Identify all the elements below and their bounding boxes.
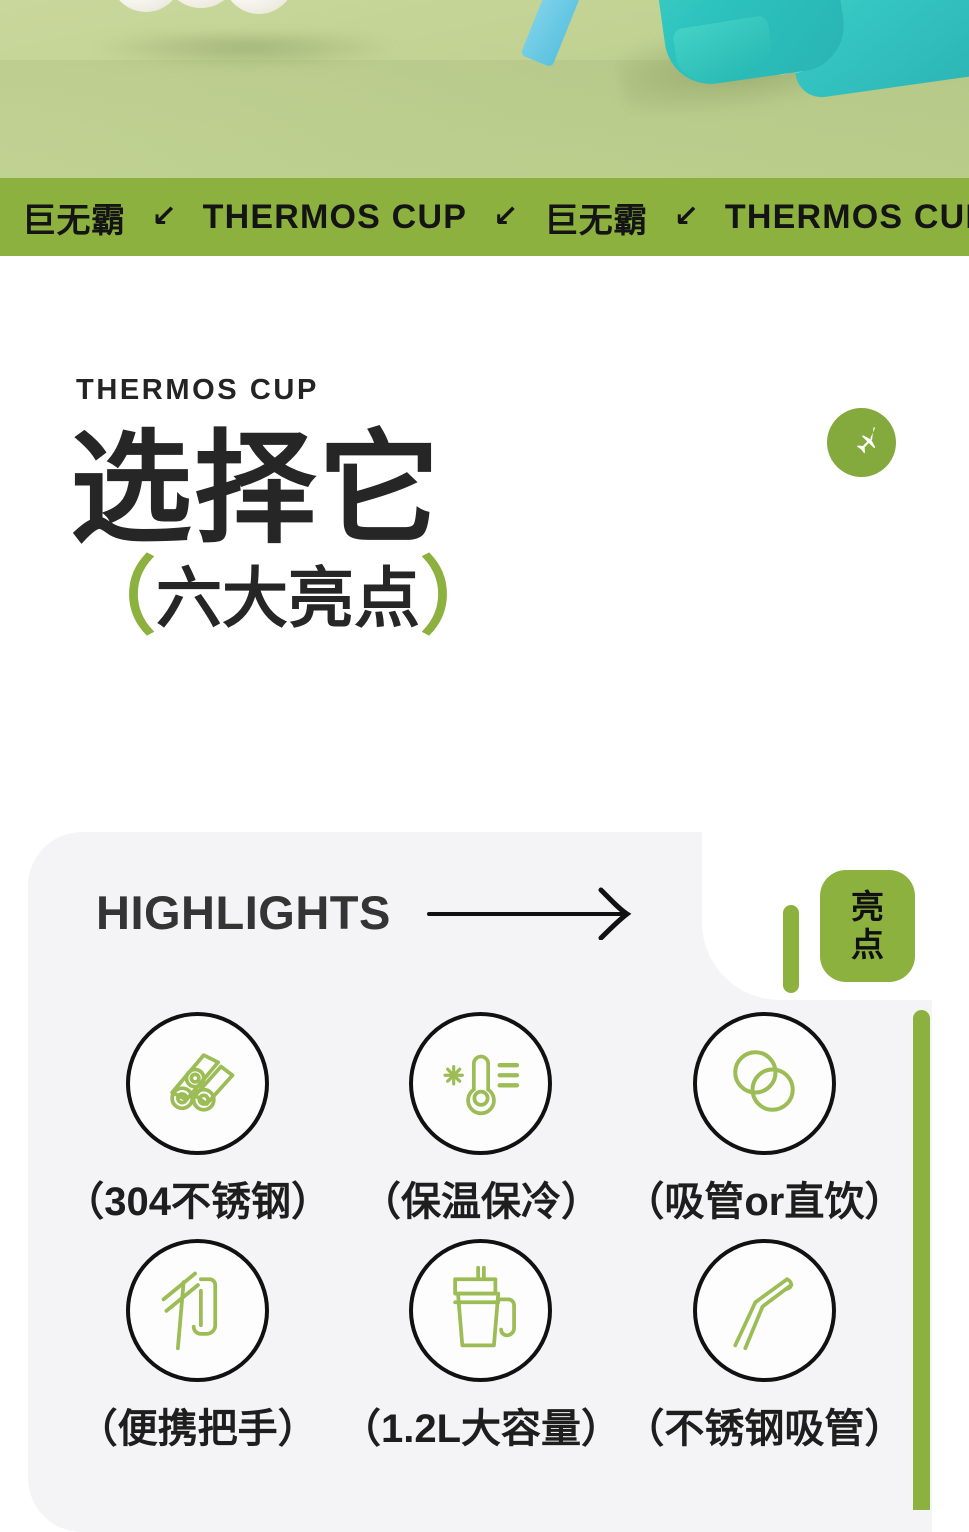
bent-straw-icon — [718, 1262, 810, 1359]
feature-cell[interactable]: （便携把手） — [56, 1239, 339, 1454]
arrow-down-left-icon: ↙ — [674, 202, 699, 232]
feature-cell[interactable]: （304不锈钢） — [56, 1012, 339, 1227]
feature-icon-circle — [126, 1012, 269, 1155]
bottle-straw — [520, 0, 581, 67]
feature-icon-circle — [409, 1239, 552, 1382]
thermometer-snowflake-icon — [435, 1035, 527, 1132]
ball — [162, 0, 240, 8]
paren-open: （ — [72, 560, 156, 636]
paren-close: ） — [420, 560, 504, 636]
feature-cell[interactable]: （吸管or直饮） — [623, 1012, 906, 1227]
heading-section: THERMOS CUP 选择它 （ 六大亮点 ） — [0, 256, 969, 636]
ball — [222, 0, 296, 14]
feature-cell[interactable]: （保温保冷） — [339, 1012, 622, 1227]
eyebrow-label: THERMOS CUP — [76, 374, 969, 407]
tumbler-straw-icon — [435, 1262, 527, 1359]
subtitle-text: 六大亮点 — [156, 562, 420, 635]
airplane-badge[interactable] — [827, 408, 896, 477]
cup-handle-icon — [152, 1262, 244, 1359]
marquee-track: 巨无霸 ↙ THERMOS CUP ↙ 巨无霸 ↙ THERMOS CUP ↙ — [0, 193, 969, 242]
long-right-arrow-icon — [425, 884, 647, 940]
two-lids-circles-icon — [718, 1035, 810, 1132]
feature-icon-circle — [409, 1012, 552, 1155]
pill-char-1: 亮 — [851, 889, 884, 925]
arrow-down-left-icon: ↙ — [152, 202, 177, 232]
feature-icon-circle — [126, 1239, 269, 1382]
highlights-title: HIGHLIGHTS — [96, 885, 391, 940]
white-ball-cluster — [110, 0, 380, 64]
subtitle-row: （ 六大亮点 ） — [72, 560, 969, 636]
feature-label: （1.2L大容量） — [341, 1396, 621, 1454]
feature-label: （便携把手） — [78, 1396, 318, 1454]
arrow-down-left-icon: ↙ — [493, 202, 518, 232]
marquee-banner: 巨无霸 ↙ THERMOS CUP ↙ 巨无霸 ↙ THERMOS CUP ↙ — [0, 178, 969, 256]
banner-item-2: 巨无霸 — [544, 193, 648, 242]
banner-item-3: THERMOS CUP — [725, 198, 969, 237]
banner-item-1: THERMOS CUP — [203, 198, 467, 237]
ball — [110, 0, 182, 12]
feature-label: （304不锈钢） — [64, 1169, 331, 1227]
card-header: HIGHLIGHTS — [96, 884, 647, 940]
feature-label: （吸管or直饮） — [624, 1169, 904, 1227]
feature-label: （不锈钢吸管） — [624, 1396, 904, 1454]
accent-bar-right — [913, 1010, 930, 1510]
steel-tubes-icon — [152, 1035, 244, 1132]
highlights-pill-badge: 亮 点 — [820, 870, 915, 982]
feature-icon-circle — [693, 1239, 836, 1382]
banner-item-0: 巨无霸 — [22, 193, 126, 242]
feature-cell[interactable]: （1.2L大容量） — [339, 1239, 622, 1454]
feature-label: （保温保冷） — [361, 1169, 601, 1227]
hero-product-photo — [0, 0, 969, 178]
accent-sliver — [783, 905, 799, 993]
airplane-icon — [845, 423, 879, 462]
feature-grid: （304不锈钢） — [56, 1012, 906, 1454]
pill-char-2: 点 — [851, 927, 884, 963]
feature-icon-circle — [693, 1012, 836, 1155]
feature-cell[interactable]: （不锈钢吸管） — [623, 1239, 906, 1454]
